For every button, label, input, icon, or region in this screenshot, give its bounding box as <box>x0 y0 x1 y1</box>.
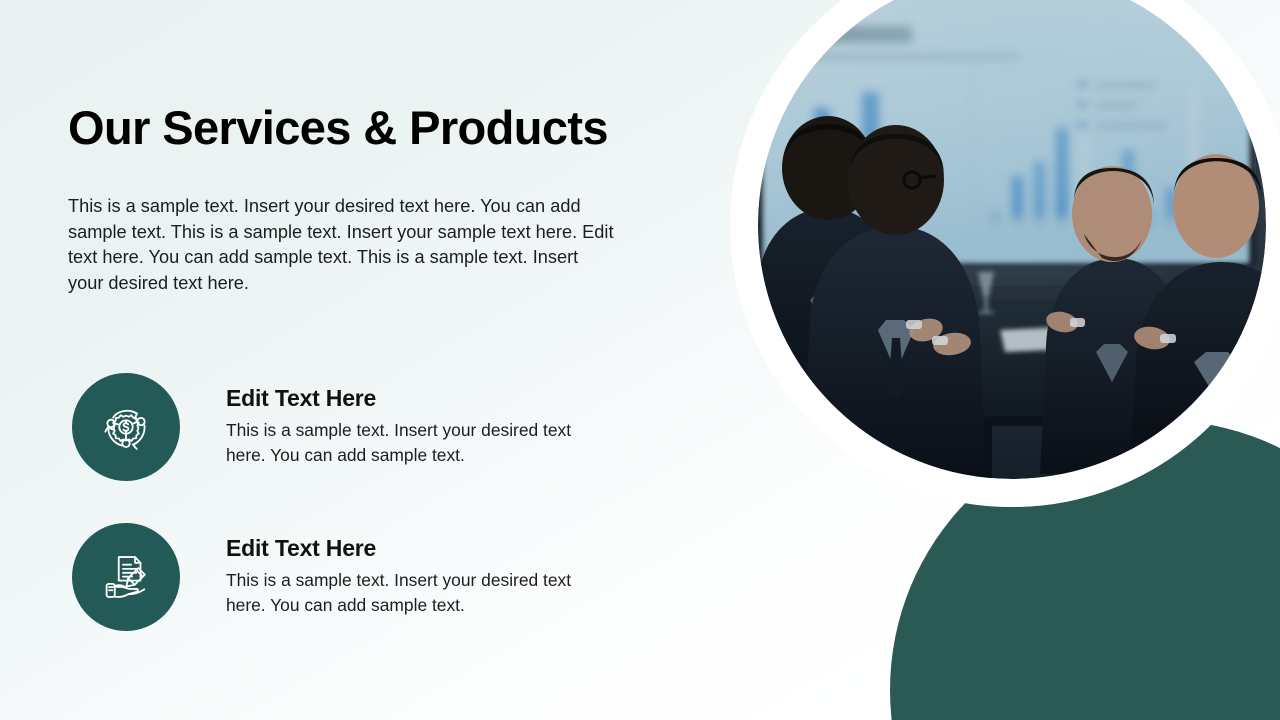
participant-right-near <box>1128 154 1280 486</box>
feature-item-2[interactable]: Edit Text Here This is a sample text. In… <box>72 523 672 631</box>
screen-chart <box>788 26 1222 227</box>
meeting-photo <box>740 0 1280 540</box>
participant-right-far <box>1040 166 1190 474</box>
feature-body-2: This is a sample text. Insert your desir… <box>226 568 606 618</box>
photo-ring <box>744 0 1280 493</box>
content-column: Our Services & Products This is a sample… <box>68 0 668 720</box>
feature-text-2: Edit Text Here This is a sample text. In… <box>226 523 626 618</box>
feature-body-1: This is a sample text. Insert your desir… <box>226 418 606 468</box>
participant-left-front <box>798 125 986 480</box>
feature-title-1: Edit Text Here <box>226 386 626 411</box>
money-gear-cycle-icon <box>72 373 180 481</box>
hand-holding-signed-document-icon <box>72 523 180 631</box>
page-title: Our Services & Products <box>68 103 608 153</box>
feature-title-2: Edit Text Here <box>226 536 626 561</box>
participant-left-back <box>744 116 904 470</box>
slide-artwork <box>660 0 1280 720</box>
slide: Our Services & Products This is a sample… <box>0 0 1280 720</box>
intro-paragraph: This is a sample text. Insert your desir… <box>68 194 614 296</box>
feature-text-1: Edit Text Here This is a sample text. In… <box>226 373 626 468</box>
teal-accent-circle <box>890 420 1280 720</box>
feature-item-1[interactable]: Edit Text Here This is a sample text. In… <box>72 373 672 481</box>
